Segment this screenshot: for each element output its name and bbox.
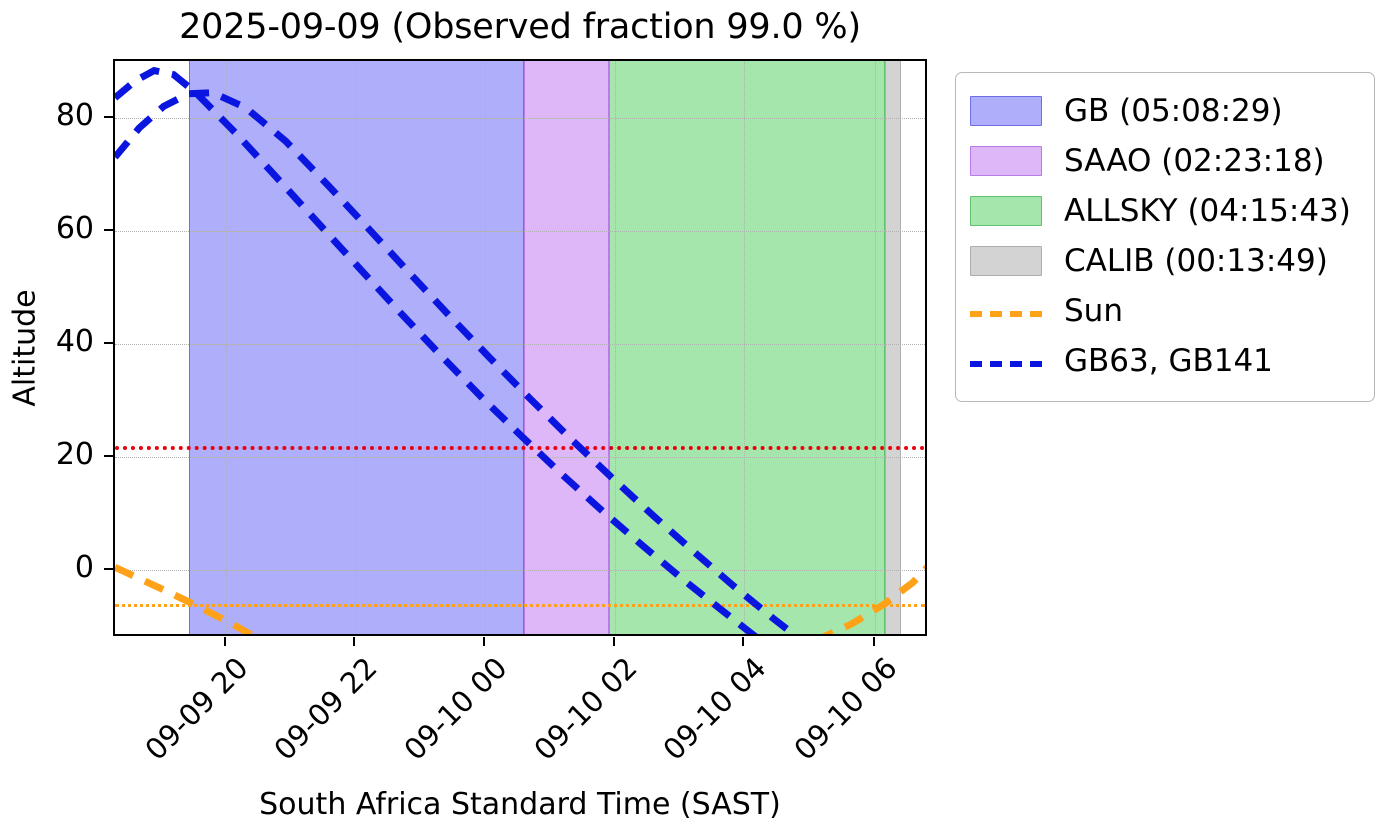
legend-item[interactable]: Sun — [970, 286, 1360, 336]
x-tick-label: 09-10 00 — [372, 652, 512, 792]
x-tick-label: 09-10 06 — [762, 652, 902, 792]
legend: GB (05:08:29)SAAO (02:23:18)ALLSKY (04:1… — [955, 72, 1375, 402]
x-tick-mark — [873, 637, 875, 646]
altitude-curves — [115, 61, 927, 636]
legend-swatch-patch — [970, 146, 1042, 176]
legend-item[interactable]: SAAO (02:23:18) — [970, 136, 1360, 186]
x-tick-label: 09-09 22 — [242, 652, 382, 792]
legend-line-glyph — [970, 311, 1042, 317]
y-tick-mark — [104, 455, 113, 457]
legend-item[interactable]: GB63, GB141 — [970, 336, 1360, 386]
y-tick-label: 60 — [0, 214, 94, 244]
x-tick-mark — [483, 637, 485, 646]
legend-line-glyph — [970, 361, 1042, 367]
curve-sun — [115, 567, 262, 636]
page-title: 2025-09-09 (Observed fraction 99.0 %) — [113, 6, 927, 48]
curve-gb63 — [115, 71, 766, 636]
x-tick-mark — [613, 637, 615, 646]
legend-item[interactable]: ALLSKY (04:15:43) — [970, 186, 1360, 236]
legend-swatch-patch — [970, 196, 1042, 226]
x-axis-label: South Africa Standard Time (SAST) — [113, 787, 927, 822]
legend-item-label: ALLSKY (04:15:43) — [1064, 194, 1351, 228]
legend-swatch-patch — [970, 246, 1042, 276]
legend-swatch-dashed-line — [970, 346, 1042, 376]
x-tick-label: 09-09 20 — [113, 652, 253, 792]
legend-item-label: CALIB (00:13:49) — [1064, 244, 1328, 278]
x-tick-mark — [353, 637, 355, 646]
legend-item-label: Sun — [1064, 294, 1123, 328]
x-tick-label: 09-10 02 — [502, 652, 642, 792]
y-tick-label: 80 — [0, 101, 94, 131]
y-tick-label: 0 — [0, 553, 94, 583]
legend-swatch-patch — [970, 96, 1042, 126]
y-tick-label: 20 — [0, 440, 94, 470]
y-tick-label: 40 — [0, 327, 94, 357]
y-tick-mark — [104, 342, 113, 344]
curve-sun-morning — [815, 566, 927, 636]
y-tick-mark — [104, 229, 113, 231]
legend-item-label: GB63, GB141 — [1064, 344, 1273, 378]
legend-item[interactable]: CALIB (00:13:49) — [970, 236, 1360, 286]
x-tick-mark — [742, 637, 744, 646]
x-tick-label: 09-10 04 — [631, 652, 771, 792]
observability-figure: 2025-09-09 (Observed fraction 99.0 %) Al… — [0, 0, 1395, 836]
legend-swatch-dashed-line — [970, 296, 1042, 326]
x-tick-mark — [224, 637, 226, 646]
legend-item-label: GB (05:08:29) — [1064, 94, 1283, 128]
legend-item[interactable]: GB (05:08:29) — [970, 86, 1360, 136]
y-tick-mark — [104, 116, 113, 118]
legend-item-label: SAAO (02:23:18) — [1064, 144, 1325, 178]
curve-gb141 — [115, 93, 803, 636]
y-tick-mark — [104, 568, 113, 570]
plot-area — [113, 59, 927, 636]
